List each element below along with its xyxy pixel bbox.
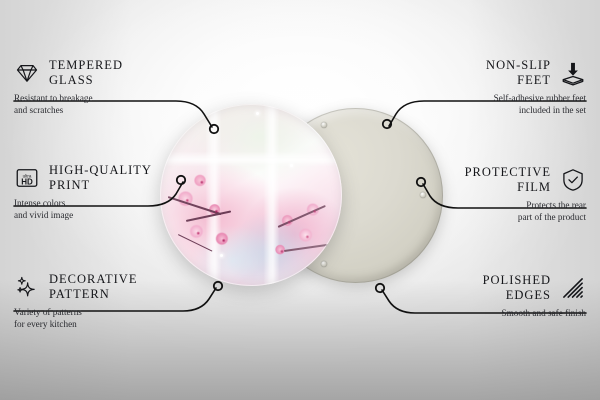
feature-header: DECORATIVE PATTERN: [14, 272, 219, 302]
feature-header: NON-SLIP FEET: [381, 58, 586, 88]
feature-title: TEMPERED GLASS: [49, 58, 123, 88]
infographic-canvas: TEMPERED GLASS Resistant to breakage and…: [0, 0, 600, 400]
feature-header: ultra HD HIGH-QUALITY PRINT: [14, 163, 219, 193]
feature-polished-edges: POLISHED EDGES Smooth and safe finish: [381, 273, 586, 320]
feature-title: HIGH-QUALITY PRINT: [49, 163, 152, 193]
feature-high-quality-print: ultra HD HIGH-QUALITY PRINT Intense colo…: [14, 163, 219, 221]
artwork-sparkle: [256, 112, 259, 115]
feature-description: Intense colors and vivid image: [14, 198, 219, 221]
feature-title: PROTECTIVE FILM: [465, 165, 551, 195]
feature-description: Resistant to breakage and scratches: [14, 93, 219, 116]
feature-protective-film: PROTECTIVE FILM Protects the rear part o…: [381, 165, 586, 223]
feature-non-slip-feet: NON-SLIP FEET Self-adhesive rubber feet …: [381, 58, 586, 116]
feature-description: Self-adhesive rubber feet included in th…: [381, 93, 586, 116]
shield-check-icon: [560, 167, 586, 193]
polished-edge-icon: [560, 275, 586, 301]
diamond-icon: [14, 60, 40, 86]
feature-decorative-pattern: DECORATIVE PATTERN Variety of patterns f…: [14, 272, 219, 330]
svg-text:HD: HD: [21, 177, 33, 186]
feature-header: POLISHED EDGES: [381, 273, 586, 303]
artwork-sparkle: [220, 254, 223, 257]
feature-title: POLISHED EDGES: [483, 273, 551, 303]
ultra-hd-icon: ultra HD: [14, 165, 40, 191]
feature-description: Protects the rear part of the product: [381, 200, 586, 223]
feature-header: PROTECTIVE FILM: [381, 165, 586, 195]
feature-tempered-glass: TEMPERED GLASS Resistant to breakage and…: [14, 58, 219, 116]
feature-description: Smooth and safe finish: [381, 308, 586, 320]
sparkle-icon: [14, 274, 40, 300]
feature-title: NON-SLIP FEET: [486, 58, 551, 88]
press-down-pad-icon: [560, 60, 586, 86]
feature-description: Variety of patterns for every kitchen: [14, 307, 219, 330]
feature-header: TEMPERED GLASS: [14, 58, 219, 88]
feature-title: DECORATIVE PATTERN: [49, 272, 137, 302]
artwork-sparkle: [290, 164, 293, 167]
